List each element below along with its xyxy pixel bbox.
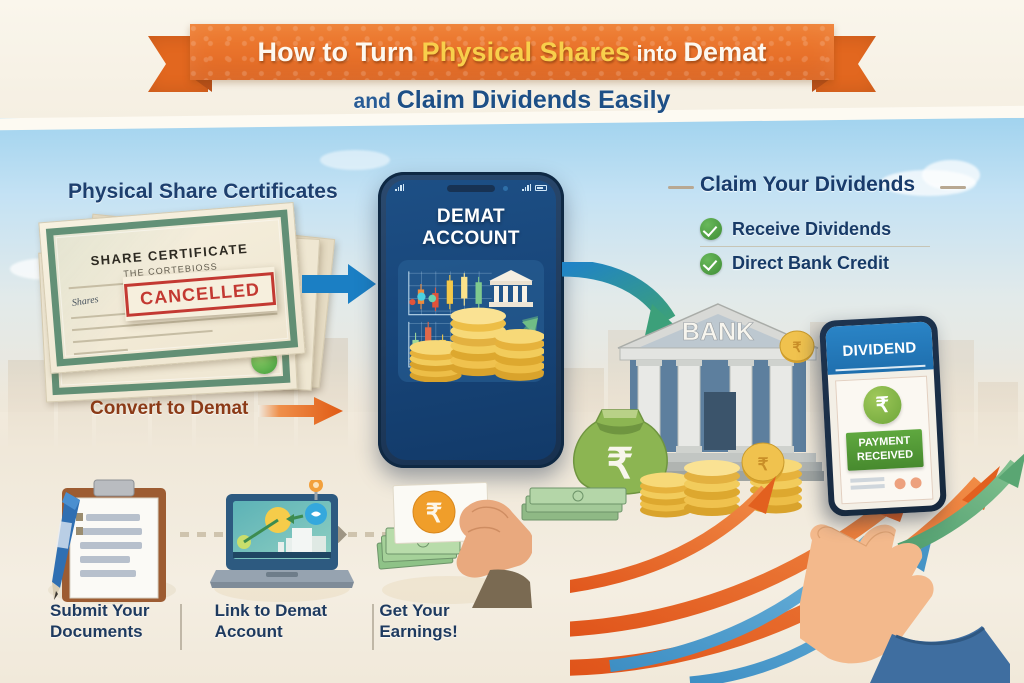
demat-account-phone[interactable]: DEMAT ACCOUNT xyxy=(378,172,564,468)
badge-line-2: RECEIVED xyxy=(849,448,922,465)
rupee-symbol: ₹ xyxy=(875,392,890,418)
dividend-item-label: Receive Dividends xyxy=(732,219,891,240)
step-3-line-1: Get Your xyxy=(379,600,522,621)
step-1-line-2: Documents xyxy=(50,621,193,642)
heading-dash-right xyxy=(940,186,966,189)
signal-icon xyxy=(395,184,404,191)
orange-arrow-convert xyxy=(258,396,344,426)
dividends-checklist: Receive Dividends Direct Bank Credit xyxy=(700,212,930,280)
ribbon-body: How to Turn Physical Shares into Demat xyxy=(190,24,834,80)
phone-screen-title: DEMAT ACCOUNT xyxy=(386,206,556,249)
step-labels-row: Submit Your Documents Link to Demat Acco… xyxy=(22,600,522,660)
rupee-coin-icon: ₹ xyxy=(862,385,902,425)
title-connector: into xyxy=(630,41,683,66)
subtitle-main: Claim Dividends Easily xyxy=(397,86,671,114)
cancelled-stamp-text: CANCELLED xyxy=(139,279,260,309)
step-divider-2 xyxy=(372,604,374,650)
hand-cash-rupee-icon: ₹ xyxy=(372,478,532,608)
heading-dash-left xyxy=(668,186,694,189)
placeholder-dots xyxy=(894,477,922,489)
bank-label: BANK xyxy=(682,318,754,346)
page-title: How to Turn Physical Shares into Demat xyxy=(258,37,767,68)
step-3-line-2: Earnings! xyxy=(379,621,522,642)
dividend-header-label: DIVIDEND xyxy=(826,338,933,361)
rupee-coin-air: ₹ xyxy=(778,328,816,366)
phone-chart-card xyxy=(398,260,544,382)
step-label-2: Link to Demat Account xyxy=(193,600,358,660)
infographic-canvas: How to Turn Physical Shares into Demat a… xyxy=(0,0,1024,683)
title-part-1: How to Turn xyxy=(258,37,422,67)
dividend-phone[interactable]: DIVIDEND ₹ PAYMENT RECEIVED xyxy=(819,315,947,517)
phone-title-line-1: DEMAT xyxy=(386,206,556,228)
dividend-phone-body: ₹ PAYMENT RECEIVED xyxy=(835,376,933,505)
phone-title-line-2: ACCOUNT xyxy=(386,228,556,250)
signal-icon-2 xyxy=(522,184,531,191)
subtitle-connector: and xyxy=(354,90,397,113)
list-item[interactable]: Direct Bank Credit xyxy=(700,246,930,280)
step-2-line-2: Account xyxy=(215,621,358,642)
title-highlight: Physical Shares xyxy=(422,37,631,67)
title-part-2: Demat xyxy=(683,37,766,67)
title-ribbon: How to Turn Physical Shares into Demat xyxy=(148,24,876,80)
dividend-phone-header: DIVIDEND xyxy=(825,321,933,374)
dividend-item-label: Direct Bank Credit xyxy=(732,253,889,274)
battery-icon xyxy=(535,185,547,191)
clipboard-pen-icon xyxy=(42,478,182,606)
phone-status-bar xyxy=(386,184,556,191)
svg-text:₹: ₹ xyxy=(793,339,802,355)
rupee-symbol-step: ₹ xyxy=(426,498,443,528)
check-circle-icon xyxy=(700,253,722,275)
step-2-line-1: Link to Demat xyxy=(215,600,358,621)
check-circle-icon xyxy=(700,218,722,240)
blue-arrow-to-phone xyxy=(300,262,378,306)
step-1-line-1: Submit Your xyxy=(50,600,193,621)
step-label-3: Get Your Earnings! xyxy=(357,600,522,660)
convert-to-demat-label: Convert to Demat xyxy=(90,398,248,420)
right-section-heading: Claim Your Dividends xyxy=(700,173,915,197)
cloud-5 xyxy=(320,150,390,170)
share-certificates-stack: SHARE CERTIFICATE THE CORTEBIOSS Shares … xyxy=(28,206,328,396)
page-subtitle: and Claim Dividends Easily xyxy=(0,86,1024,115)
payment-received-badge: PAYMENT RECEIVED xyxy=(846,429,924,470)
step-divider-1 xyxy=(180,604,182,650)
list-item[interactable]: Receive Dividends xyxy=(700,212,930,246)
laptop-chart-icon xyxy=(208,480,356,604)
step-label-1: Submit Your Documents xyxy=(22,600,193,660)
left-section-heading: Physical Share Certificates xyxy=(68,180,338,204)
placeholder-lines xyxy=(850,477,885,493)
coin-stack-icon xyxy=(406,298,544,382)
